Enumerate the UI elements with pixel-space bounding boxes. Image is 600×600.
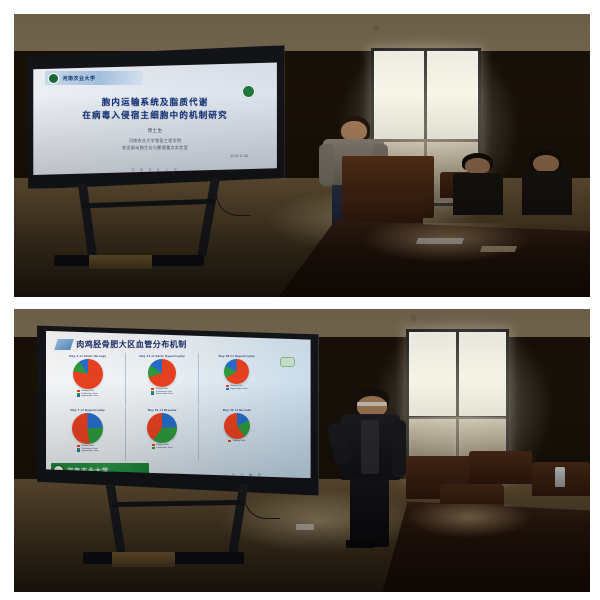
slide-banner-text: 河南农业大学 xyxy=(62,75,95,82)
display-screen-surface[interactable]: 河南农业大学 胞内运输系统及脂质代谢 在病毒入侵宿主细胞中的机制研究 博士生 河… xyxy=(33,62,277,175)
slide2-header: 肉鸡胫骨肥大区血管分布机制 xyxy=(56,335,300,354)
slide-title: 胞内运输系统及脂质代谢 在病毒入侵宿主细胞中的机制研究 xyxy=(33,96,277,122)
pie-chart-4: Day 21 of Disease Resting Cells Prolifer… xyxy=(125,407,199,460)
audience-1-body xyxy=(453,173,503,215)
legend-label: Proliferative Zone xyxy=(156,447,172,449)
pie-chart-5: Day 42 of Normal Resting Cells xyxy=(200,407,274,460)
floor-box xyxy=(112,552,175,566)
slide-pie-charts: 肉鸡胫骨肥大区血管分布机制 Day 1 of Chart (Group) Res… xyxy=(46,331,311,478)
pie-chart-0-title: Day 1 of Chart (Group) xyxy=(69,354,106,358)
legend-swatch-blue xyxy=(151,393,154,395)
display-panel-bottom[interactable]: 肉鸡胫骨肥大区血管分布机制 Day 1 of Chart (Group) Res… xyxy=(31,320,319,495)
floor-paper xyxy=(296,524,313,530)
legend-item: Hypertrophic Zone xyxy=(77,395,99,397)
legend-item: Resting Cells xyxy=(228,440,245,442)
photo-collage: 河南农业大学 胞内运输系统及脂质代谢 在病毒入侵宿主细胞中的机制研究 博士生 河… xyxy=(0,0,600,600)
pie-chart-2-graphic xyxy=(224,359,249,384)
pie-chart-3: Day 7 of Hypertrophy Resting Cells Proli… xyxy=(51,407,125,460)
pie-chart-4-title: Day 21 of Disease xyxy=(148,408,177,412)
slide-banner: 河南农业大学 xyxy=(45,71,142,85)
legend-swatch-blue xyxy=(226,388,229,390)
legend-label: Hypertrophic Zone xyxy=(230,388,247,390)
legend-label: Hypertrophic Zone xyxy=(81,450,98,452)
presenter-shoes xyxy=(346,540,374,548)
legend-item: Proliferative Zone xyxy=(152,447,173,449)
pie-chart-1: Day 14 of Early Hypertrophy Resting Cell… xyxy=(125,353,199,406)
ceiling-fixture-icon xyxy=(411,315,416,321)
presenter-male xyxy=(337,388,406,546)
photo-top: 河南农业大学 胞内运输系统及脂质代谢 在病毒入侵宿主细胞中的机制研究 博士生 河… xyxy=(14,14,590,297)
pie-chart-2-legend: Resting Cells Hypertrophic Zone xyxy=(226,385,248,390)
display-screen-surface[interactable]: 肉鸡胫骨肥大区血管分布机制 Day 1 of Chart (Group) Res… xyxy=(46,331,311,478)
legend-label: Resting Cells xyxy=(233,440,245,442)
legend-item: Hypertrophic Zone xyxy=(77,450,99,452)
pie-chart-2-title: Day 28 of Hypertrophy xyxy=(219,354,255,358)
pie-chart-0-graphic xyxy=(73,359,103,389)
legend-item: Hypertrophic Zone xyxy=(151,393,173,395)
ribbon-decoration-icon xyxy=(54,339,74,350)
pie-chart-3-title: Day 7 of Hypertrophy xyxy=(71,408,105,412)
slide-title-line-2: 在病毒入侵宿主细胞中的机制研究 xyxy=(33,109,277,122)
legend-swatch-blue xyxy=(77,395,80,397)
water-bottle xyxy=(555,467,564,487)
slide-author: 博士生 xyxy=(33,128,277,134)
slide2-seal-icon xyxy=(280,357,295,367)
university-logo-icon xyxy=(48,73,59,84)
slide-affiliation: 河南农业大学牧医工程学院 农业部动物生长与繁殖重点实验室 xyxy=(33,137,277,152)
pie-chart-5-graphic xyxy=(224,413,250,439)
floor-box xyxy=(89,255,152,269)
pie-chart-1-legend: Resting Cells Proliferative Zone Hypertr… xyxy=(151,388,173,395)
pie-chart-4-graphic xyxy=(147,413,177,443)
chair-right xyxy=(469,451,532,485)
pie-chart-5-title: Day 42 of Normal xyxy=(223,408,251,412)
slide-date: 2019.11.08 xyxy=(230,154,247,158)
display-panel-top[interactable]: 河南农业大学 胞内运输系统及脂质代谢 在病毒入侵宿主细胞中的机制研究 博士生 河… xyxy=(26,45,285,189)
pie-chart-1-graphic xyxy=(148,359,176,387)
presenter-shirt xyxy=(361,420,379,474)
pie-chart-0: Day 1 of Chart (Group) Resting Cells Pro… xyxy=(51,353,125,406)
pie-chart-0-legend: Resting Cells Proliferative Zone Hypertr… xyxy=(77,390,99,397)
window-pane xyxy=(459,332,506,416)
audience-2-head xyxy=(533,155,559,172)
legend-swatch-red xyxy=(228,440,231,442)
pie-chart-3-legend: Resting Cells Proliferative Zone Hypertr… xyxy=(77,445,99,452)
slide-title-line-1: 胞内运输系统及脂质代谢 xyxy=(33,96,277,109)
audience-1-head xyxy=(465,158,490,174)
slide-title-page: 河南农业大学 胞内运输系统及脂质代谢 在病毒入侵宿主细胞中的机制研究 博士生 河… xyxy=(33,62,277,175)
photo-bottom: 肉鸡胫骨肥大区血管分布机制 Day 1 of Chart (Group) Res… xyxy=(14,309,590,592)
table-paper xyxy=(416,238,464,244)
window-pane xyxy=(427,51,477,139)
presenter-legs xyxy=(350,477,389,547)
legend-item: Hypertrophic Zone xyxy=(226,388,248,390)
pie-chart-4-legend: Resting Cells Proliferative Zone xyxy=(152,444,173,449)
pie-chart-1-title: Day 14 of Early Hypertrophy xyxy=(139,354,185,358)
window-pane xyxy=(409,332,456,416)
table-object xyxy=(480,246,516,252)
legend-label: Hypertrophic Zone xyxy=(81,395,98,397)
pie-chart-5-legend: Resting Cells xyxy=(228,440,245,442)
pie-chart-2: Day 28 of Hypertrophy Resting Cells Hype… xyxy=(200,353,274,406)
presenter-arm-right xyxy=(392,420,406,477)
audience-member-2 xyxy=(521,150,573,215)
legend-swatch-blue xyxy=(77,450,80,452)
pie-chart-grid: Day 1 of Chart (Group) Resting Cells Pro… xyxy=(51,353,274,461)
conference-table-bottom xyxy=(383,501,590,592)
ceiling-fixture-icon xyxy=(374,25,379,31)
slide-affiliation-line-1: 河南农业大学牧医工程学院 xyxy=(33,137,277,145)
slide2-title: 肉鸡胫骨肥大区血管分布机制 xyxy=(76,339,187,350)
presenter-arm-left xyxy=(319,144,334,185)
pie-chart-3-graphic xyxy=(72,413,103,444)
audience-member-1 xyxy=(452,153,504,215)
legend-label: Hypertrophic Zone xyxy=(156,393,173,395)
audience-2-body xyxy=(522,171,572,215)
slide-affiliation-line-2: 农业部动物生长与繁殖重点实验室 xyxy=(33,144,277,152)
glasses-icon xyxy=(357,402,387,406)
legend-swatch-green xyxy=(152,447,155,449)
